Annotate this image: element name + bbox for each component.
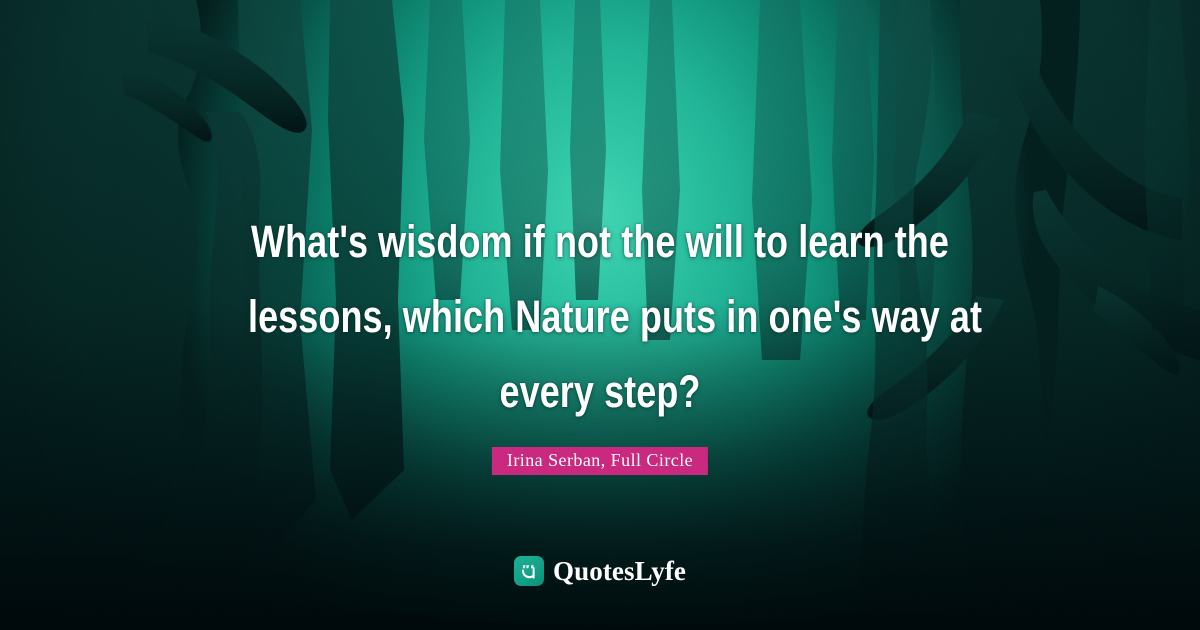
quote-text: What's wisdom if not the will to learn t… xyxy=(160,204,1040,429)
brand-logo[interactable]: QuotesLyfe xyxy=(514,556,686,586)
quote-line-3: every step? xyxy=(248,354,952,429)
quote-line-2: lessons, which Nature puts in one's way … xyxy=(248,279,952,354)
quote-line-1: What's wisdom if not the will to learn t… xyxy=(248,204,952,279)
attribution-badge: Irina Serban, Full Circle xyxy=(492,447,708,475)
quote-smiley-icon xyxy=(514,556,544,586)
brand-name: QuotesLyfe xyxy=(553,558,686,585)
quote-card: What's wisdom if not the will to learn t… xyxy=(0,0,1200,630)
